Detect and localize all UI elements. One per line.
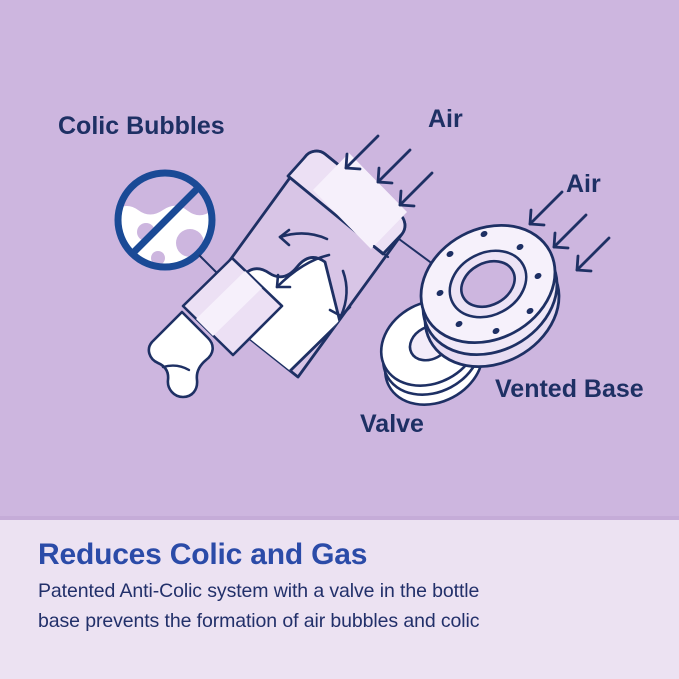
- label-air-left: Air: [428, 105, 463, 133]
- label-valve: Valve: [360, 410, 424, 438]
- air-arrow: [346, 136, 378, 169]
- bottle: [149, 151, 407, 420]
- caption-title: Reduces Colic and Gas: [38, 538, 658, 571]
- caption-body-line-1: Patented Anti-Colic system with a valve …: [38, 577, 658, 607]
- caption-body-line-2: base prevents the formation of air bubbl…: [38, 607, 658, 637]
- label-vented-base: Vented Base: [495, 375, 644, 403]
- product-feature-card: Colic Bubbles Air Air Valve Vented Base …: [0, 0, 679, 679]
- air-arrow: [554, 215, 586, 248]
- air-arrow: [378, 150, 410, 183]
- anti-colic-diagram: Colic Bubbles Air Air Valve Vented Base: [0, 0, 679, 516]
- air-arrow: [530, 192, 562, 225]
- label-colic-bubbles: Colic Bubbles: [58, 112, 225, 140]
- caption-block: Reduces Colic and Gas Patented Anti-Coli…: [38, 538, 658, 636]
- air-arrow: [577, 238, 609, 271]
- label-air-right: Air: [566, 170, 601, 198]
- air-arrow: [400, 173, 432, 206]
